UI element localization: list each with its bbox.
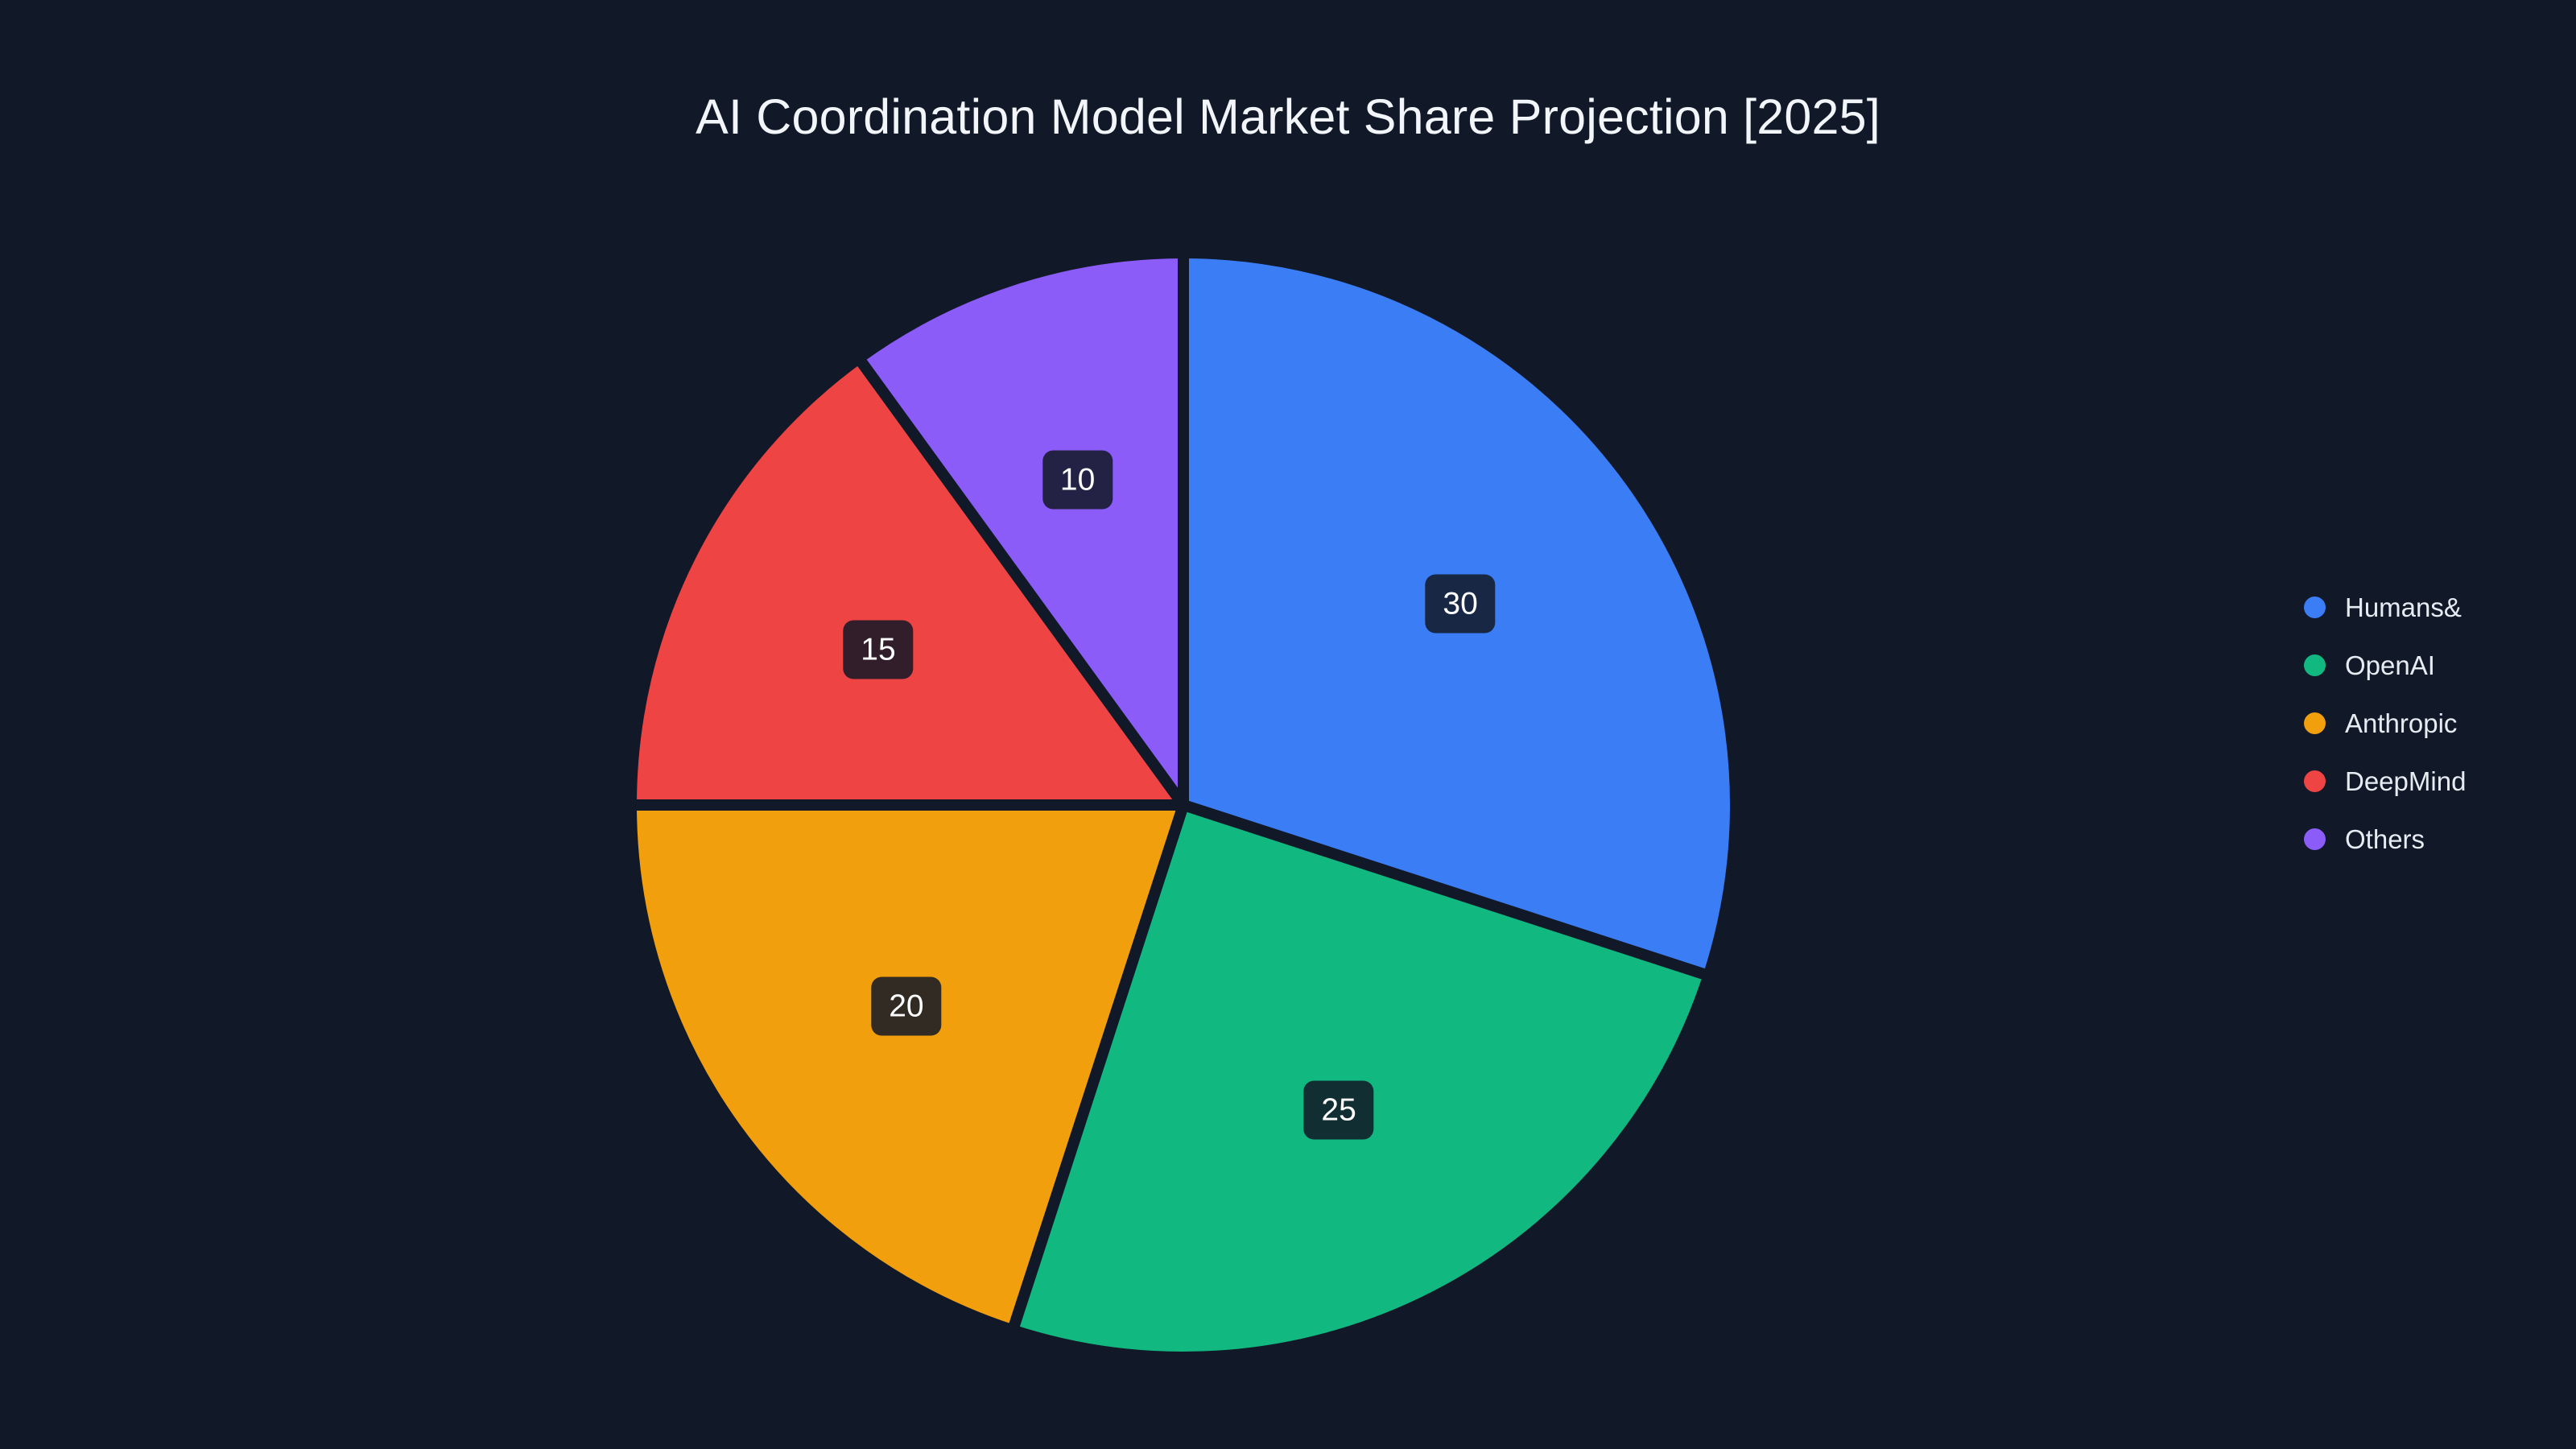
slice-value-label: 15	[843, 620, 913, 679]
legend-item-deepmind[interactable]: DeepMind	[2304, 752, 2545, 810]
legend-swatch-icon	[2304, 828, 2326, 850]
slice-value-label: 25	[1303, 1081, 1373, 1140]
legend-item-label: Humans&	[2345, 594, 2462, 621]
legend-item-openai[interactable]: OpenAI	[2304, 636, 2545, 694]
slice-value-label: 30	[1425, 575, 1495, 634]
pie-chart: 3025201510	[0, 0, 2576, 1449]
legend: Humans&OpenAIAnthropicDeepMindOthers	[2304, 578, 2545, 868]
legend-swatch-icon	[2304, 654, 2326, 676]
legend-item-label: Anthropic	[2345, 710, 2457, 737]
legend-item-anthropic[interactable]: Anthropic	[2304, 694, 2545, 752]
slice-value-label: 20	[871, 977, 941, 1036]
legend-item-label: Others	[2345, 826, 2425, 852]
legend-swatch-icon	[2304, 712, 2326, 734]
legend-item-label: OpenAI	[2345, 652, 2435, 679]
legend-swatch-icon	[2304, 770, 2326, 792]
chart-canvas: AI Coordination Model Market Share Proje…	[0, 0, 2576, 1449]
pie-slice-group	[631, 253, 1736, 1357]
legend-item-humans[interactable]: Humans&	[2304, 578, 2545, 636]
legend-item-others[interactable]: Others	[2304, 810, 2545, 868]
legend-swatch-icon	[2304, 597, 2326, 618]
slice-value-label: 10	[1042, 450, 1113, 509]
pie-svg	[0, 0, 2576, 1449]
legend-item-label: DeepMind	[2345, 768, 2466, 795]
